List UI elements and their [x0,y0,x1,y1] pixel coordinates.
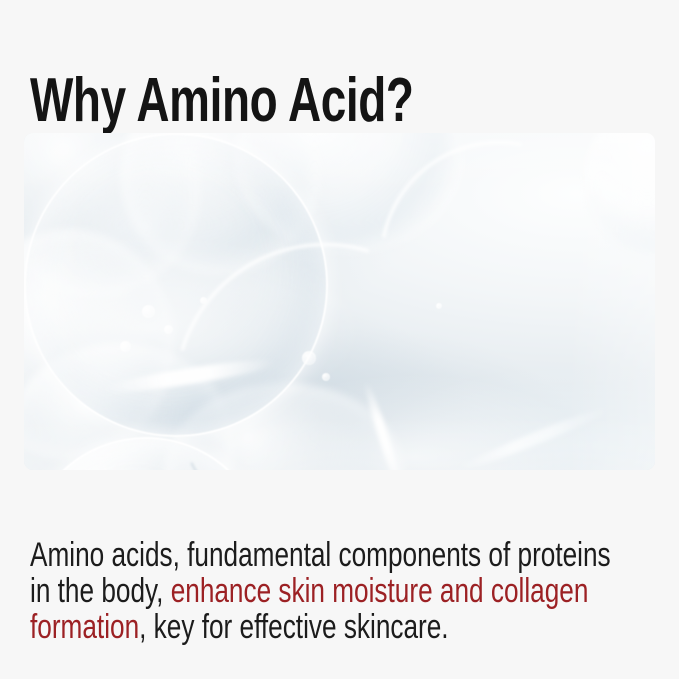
body-line-3-accent: formation [30,608,139,646]
body-line-2-accent: enhance skin moisture and collagen [171,572,589,610]
body-line-3-text: , key for effective skincare. [139,608,448,646]
body-line-3: formation, key for effective skincare. [30,609,523,645]
body-copy: Amino acids, fundamental components of p… [30,537,523,645]
droplet-b [164,325,173,334]
body-line-1-text: Amino acids, fundamental components of p… [30,536,611,574]
droplet-d [200,297,207,304]
page-title: Why Amino Acid? [30,68,414,134]
product-info-card: Why Amino Acid? [0,0,679,679]
body-line-2: in the body, enhance skin moisture and c… [30,573,523,609]
hero-image [24,133,655,470]
droplet-e [302,351,316,365]
droplet-c [120,341,131,352]
droplet-g [436,303,442,309]
droplet-a [142,305,155,318]
body-line-2-text: in the body, [30,572,171,610]
droplet-f [322,373,330,381]
body-line-1: Amino acids, fundamental components of p… [30,537,523,573]
